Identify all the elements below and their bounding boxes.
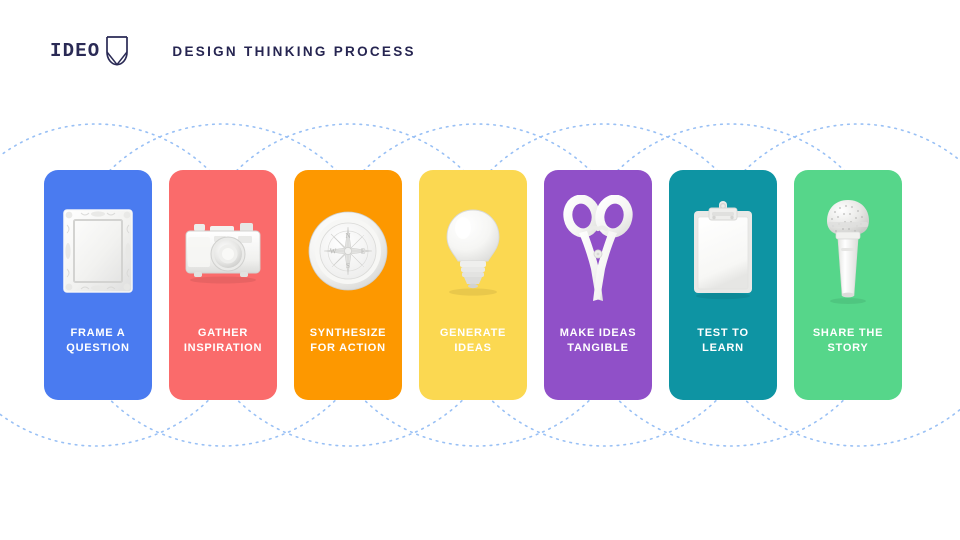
clipboard-icon (669, 170, 777, 326)
step-card-make-ideas-tangible[interactable]: MAKE IDEAS TANGIBLE (544, 170, 652, 400)
step-card-share-the-story[interactable]: SHARE THE STORY (794, 170, 902, 400)
process-steps-row: FRAME A QUESTION (44, 170, 916, 400)
scissors-icon (544, 170, 652, 326)
step-label: GATHER INSPIRATION (169, 326, 277, 400)
lightbulb-icon (419, 170, 527, 326)
svg-text:W: W (330, 248, 337, 256)
step-card-gather-inspiration[interactable]: GATHER INSPIRATION (169, 170, 277, 400)
camera-icon (169, 170, 277, 326)
step-label: SHARE THE STORY (794, 326, 902, 400)
step-label: FRAME A QUESTION (44, 326, 152, 400)
compass-icon: N S E W (294, 170, 402, 326)
microphone-icon (794, 170, 902, 326)
svg-text:E: E (361, 248, 365, 256)
step-card-frame-a-question[interactable]: FRAME A QUESTION (44, 170, 152, 400)
step-label: GENERATE IDEAS (419, 326, 527, 400)
step-card-synthesize-for-action[interactable]: N S E W SYNTHESIZE FOR ACTION (294, 170, 402, 400)
step-label: TEST TO LEARN (669, 326, 777, 400)
page-title: DESIGN THINKING PROCESS (172, 44, 415, 59)
step-label: SYNTHESIZE FOR ACTION (294, 326, 402, 400)
picture-frame-icon (44, 170, 152, 326)
step-label: MAKE IDEAS TANGIBLE (544, 326, 652, 400)
logo-wordmark: IDEO (50, 42, 100, 61)
slide-canvas: IDEO DESIGN THINKING PROCESS (0, 0, 960, 540)
svg-text:N: N (345, 232, 350, 240)
svg-text:S: S (346, 262, 350, 270)
header: IDEO DESIGN THINKING PROCESS (50, 36, 416, 66)
step-card-generate-ideas[interactable]: GENERATE IDEAS (419, 170, 527, 400)
ideo-u-mark-icon (104, 36, 130, 66)
step-card-test-to-learn[interactable]: TEST TO LEARN (669, 170, 777, 400)
ideo-u-logo[interactable]: IDEO (50, 36, 130, 66)
